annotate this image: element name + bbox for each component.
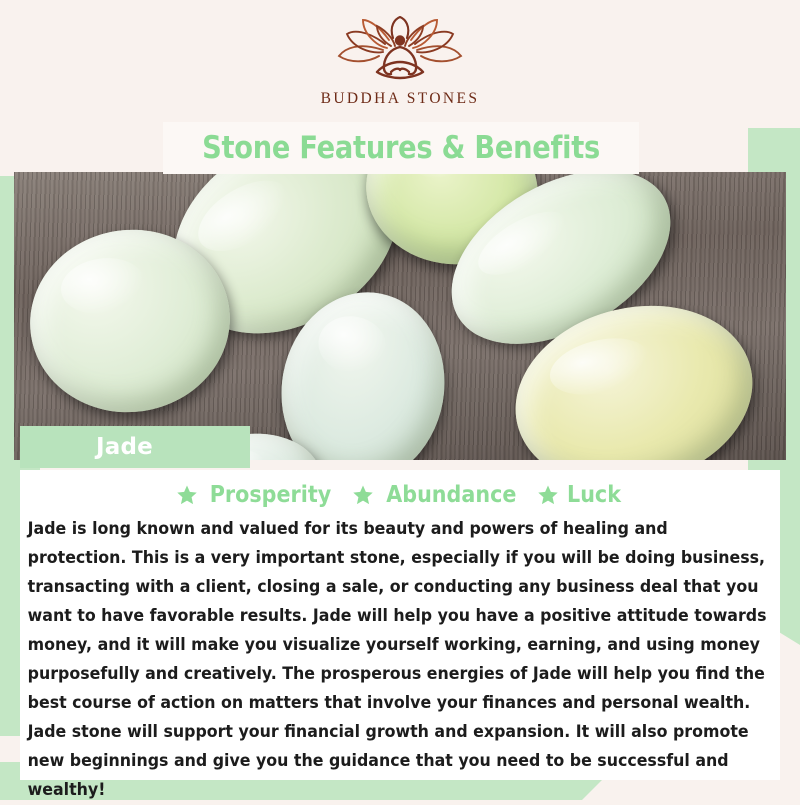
benefit-label: Prosperity	[209, 482, 330, 508]
brand-header: BUDDHA STONES	[0, 0, 800, 128]
benefit-label: Luck	[567, 482, 621, 508]
title-banner: Stone Features & Benefits	[163, 122, 639, 174]
star-icon	[537, 484, 559, 506]
benefit-item: Abundance	[352, 482, 524, 508]
page-title: Stone Features & Benefits	[202, 130, 600, 166]
benefit-item: Prosperity	[176, 482, 338, 508]
stone-name-label: Jade	[96, 434, 153, 460]
stone-info-panel: Prosperity Abundance Luck Jade is long k…	[20, 470, 780, 780]
benefits-row: Prosperity Abundance Luck	[24, 478, 776, 512]
star-icon	[176, 484, 198, 506]
brand-name: BUDDHA STONES	[321, 90, 480, 108]
stone-photo	[14, 172, 786, 460]
stone-name-tag: Jade	[20, 426, 250, 468]
stone-description: Jade is long known and valued for its be…	[24, 515, 774, 805]
star-icon	[352, 484, 374, 506]
benefit-label: Abundance	[386, 482, 516, 508]
benefit-item: Luck	[537, 482, 624, 508]
lotus-meditation-icon	[325, 16, 475, 84]
